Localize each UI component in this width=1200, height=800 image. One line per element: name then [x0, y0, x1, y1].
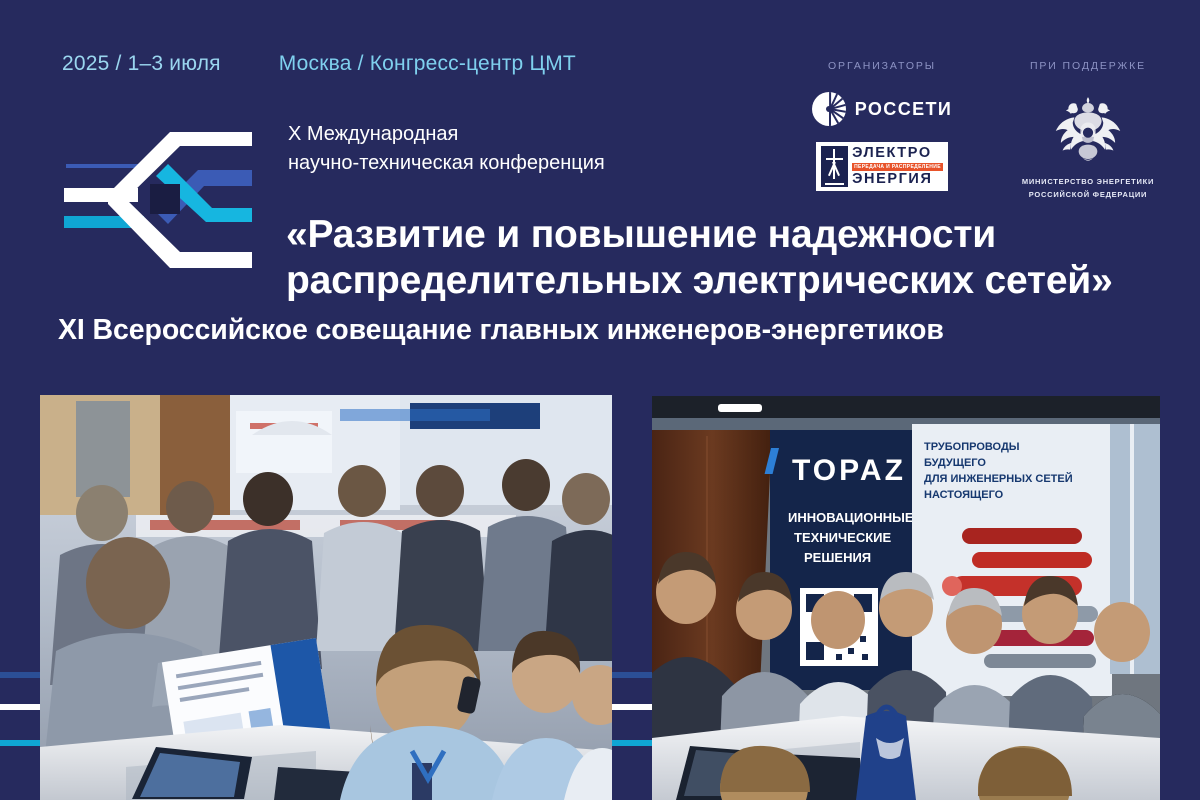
organizers-caption: ОРГАНИЗАТОРЫ — [828, 60, 936, 72]
svg-text:ИННОВАЦИОННЫЕ: ИННОВАЦИОННЫЕ — [788, 510, 914, 525]
conference-banner: 2025 / 1–3 июля Москва / Конгресс-центр … — [0, 0, 1200, 800]
rosseti-fan-icon — [812, 92, 846, 126]
title-line-1: «Развитие и повышение надежности — [286, 212, 1113, 258]
rosseti-logo: РОССЕТИ — [812, 92, 953, 126]
decor-rule-mid-cyan — [612, 740, 652, 746]
support-caption: ПРИ ПОДДЕРЖКЕ — [1030, 60, 1146, 72]
support-block: ПРИ ПОДДЕРЖКЕ — [1012, 60, 1164, 202]
elektro-tagline: ПЕРЕДАЧА И РАСПРЕДЕЛЕНИЕ — [852, 163, 943, 171]
svg-text:TOPAZ: TOPAZ — [792, 454, 906, 487]
event-date: 2025 / 1–3 июля — [62, 52, 221, 76]
title-line-2: распределительных электрических сетей» — [286, 258, 1113, 304]
ministry-line-1: МИНИСТЕРСТВО ЭНЕРГЕТИКИ — [1022, 176, 1154, 189]
ministry-line-2: РОССИЙСКОЙ ФЕДЕРАЦИИ — [1022, 189, 1154, 202]
photo-registration-desk — [40, 395, 612, 800]
svg-text:ТЕХНИЧЕСКИЕ: ТЕХНИЧЕСКИЕ — [794, 530, 891, 545]
double-headed-eagle-icon — [1045, 92, 1131, 170]
ministry-name: МИНИСТЕРСТВО ЭНЕРГЕТИКИ РОССИЙСКОЙ ФЕДЕР… — [1022, 176, 1154, 202]
energia-word: ЭНЕРГИЯ — [852, 172, 943, 187]
elektro-word: ЭЛЕКТРО — [852, 146, 943, 161]
decor-rule-left-cyan — [0, 740, 40, 746]
svg-text:ТРУБОПРОВОДЫ: ТРУБОПРОВОДЫ — [924, 441, 1020, 453]
decor-rule-mid-white — [612, 704, 652, 710]
svg-text:РЕШЕНИЯ: РЕШЕНИЯ — [804, 550, 871, 565]
elektroenergia-logo: ЭЛЕКТРО ПЕРЕДАЧА И РАСПРЕДЕЛЕНИЕ ЭНЕРГИЯ — [816, 142, 948, 191]
decor-rule-left-blue — [0, 672, 40, 678]
svg-text:БУДУЩЕГО: БУДУЩЕГО — [924, 457, 986, 469]
decor-rule-mid-blue — [612, 672, 652, 678]
kicker-line-1: X Международная — [288, 120, 605, 149]
event-location: Москва / Конгресс-центр ЦМТ — [279, 52, 576, 76]
conference-logo-icon — [52, 112, 270, 292]
svg-text:ДЛЯ ИНЖЕНЕРНЫХ СЕТЕЙ: ДЛЯ ИНЖЕНЕРНЫХ СЕТЕЙ — [924, 472, 1073, 485]
decor-rule-left-white — [0, 704, 40, 710]
organizers-block: ОРГАНИЗАТОРЫ РОССЕТИ ЭЛЕКТРО ПЕРЕДАЧА И … — [808, 60, 956, 191]
page-title: «Развитие и повышение надежности распред… — [286, 212, 1113, 304]
photo-exhibition-stands: TOPAZ ИННОВАЦИОННЫЕ ТЕХНИЧЕСКИЕ РЕШЕНИЯ — [652, 396, 1160, 800]
conference-kicker: X Международная научно-техническая конфе… — [288, 120, 605, 178]
power-pylon-icon — [821, 146, 848, 187]
rosseti-wordmark: РОССЕТИ — [855, 99, 953, 120]
kicker-line-2: научно-техническая конференция — [288, 149, 605, 178]
page-subtitle: XI Всероссийское совещание главных инжен… — [58, 314, 944, 347]
event-meta: 2025 / 1–3 июля Москва / Конгресс-центр … — [62, 52, 576, 76]
svg-text:НАСТОЯЩЕГО: НАСТОЯЩЕГО — [924, 489, 1004, 501]
